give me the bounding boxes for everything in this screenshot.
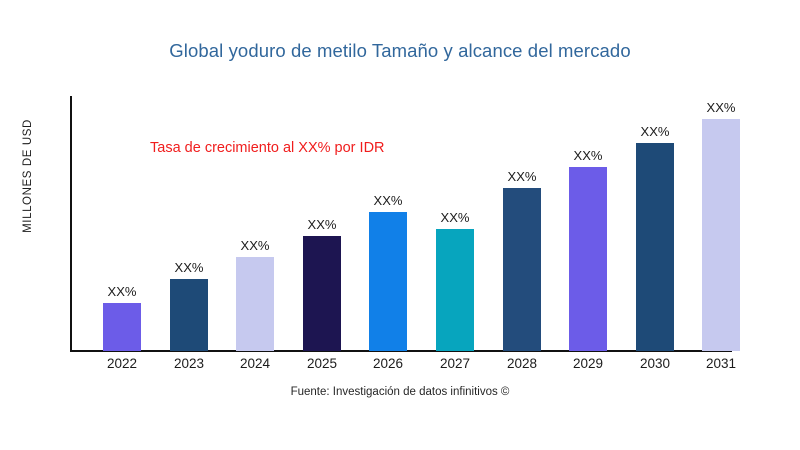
bar[interactable] bbox=[170, 279, 208, 351]
x-tick-2025: 2025 bbox=[291, 356, 353, 371]
bar[interactable] bbox=[369, 212, 407, 351]
bar-value-label: XX% bbox=[291, 217, 353, 232]
x-tick-2028: 2028 bbox=[491, 356, 553, 371]
x-tick-2024: 2024 bbox=[224, 356, 286, 371]
bar[interactable] bbox=[236, 257, 274, 351]
bar[interactable] bbox=[503, 188, 541, 351]
bar-value-label: XX% bbox=[690, 100, 752, 115]
x-tick-2029: 2029 bbox=[557, 356, 619, 371]
x-tick-2031: 2031 bbox=[690, 356, 752, 371]
x-axis-tick-labels: 2022202320242025202620272028202920302031 bbox=[70, 356, 800, 380]
bar[interactable] bbox=[103, 303, 141, 351]
x-tick-2023: 2023 bbox=[158, 356, 220, 371]
bar-series: XX%XX%XX%XX%XX%XX%XX%XX%XX%XX% bbox=[70, 96, 800, 351]
bar[interactable] bbox=[702, 119, 740, 351]
bar-value-label: XX% bbox=[424, 210, 486, 225]
bar-value-label: XX% bbox=[624, 124, 686, 139]
bar[interactable] bbox=[569, 167, 607, 351]
x-tick-2022: 2022 bbox=[91, 356, 153, 371]
y-axis-label: MILLONES DE USD bbox=[22, 76, 34, 276]
bar[interactable] bbox=[303, 236, 341, 351]
x-tick-2026: 2026 bbox=[357, 356, 419, 371]
bar[interactable] bbox=[436, 229, 474, 351]
bar[interactable] bbox=[636, 143, 674, 351]
chart-title: Global yoduro de metilo Tamaño y alcance… bbox=[0, 40, 800, 62]
source-caption: Fuente: Investigación de datos infinitiv… bbox=[0, 386, 800, 398]
bar-value-label: XX% bbox=[158, 260, 220, 275]
x-tick-2027: 2027 bbox=[424, 356, 486, 371]
bar-value-label: XX% bbox=[557, 148, 619, 163]
plot-area: Tasa de crecimiento al XX% por IDR XX%XX… bbox=[70, 96, 732, 352]
bar-value-label: XX% bbox=[91, 284, 153, 299]
x-tick-2030: 2030 bbox=[624, 356, 686, 371]
bar-value-label: XX% bbox=[224, 238, 286, 253]
chart-canvas: Global yoduro de metilo Tamaño y alcance… bbox=[0, 0, 800, 450]
bar-value-label: XX% bbox=[357, 193, 419, 208]
bar-value-label: XX% bbox=[491, 169, 553, 184]
